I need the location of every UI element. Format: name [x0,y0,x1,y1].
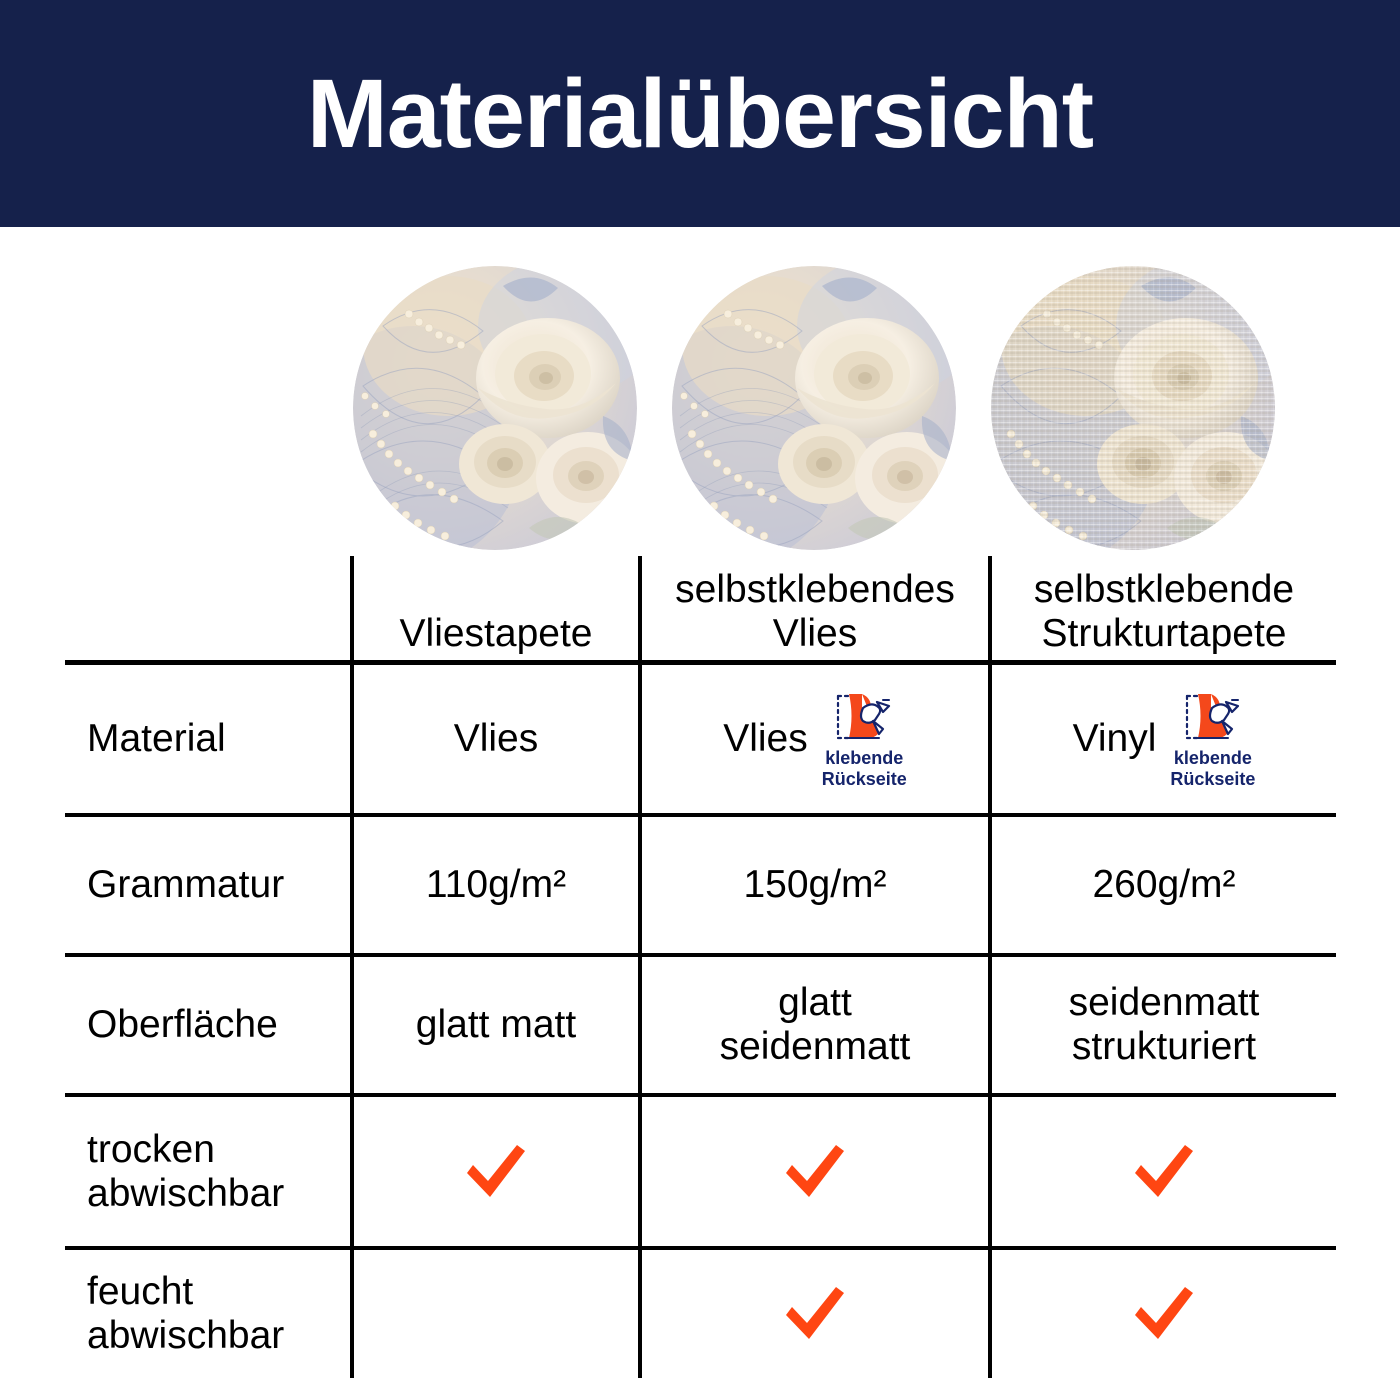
thumbnail-row [0,266,1400,556]
cell-value: glatt matt [416,1003,576,1047]
header-cell-vliestapete: Vliestapete [352,556,640,662]
cell-oberflaeche-selbstklebende-strukturtapete: seidenmatt strukturiert [990,955,1336,1095]
row-label-text: Material [87,717,226,760]
cell-grammatur-vliestapete: 110g/m² [352,815,640,955]
cell-trocken-vliestapete [352,1095,640,1248]
header-label-selbstklebendes-vlies: selbstklebendes Vlies [675,568,955,655]
header-cell-selbstklebende-strukturtapete: selbstklebende Strukturtapete [990,556,1336,662]
material-overview-page: Materialübersicht [0,0,1400,1400]
table-row: feucht abwischbar [65,1248,1336,1378]
table-row: Material Vlies Vlies [65,662,1336,815]
thumbnail-vliestapete[interactable] [353,266,637,550]
row-label-text: Oberfläche [87,1003,278,1046]
adhesive-backing-badge: klebende Rückseite [822,688,907,790]
adhesive-backing-label: klebende Rückseite [822,748,907,790]
cell-grammatur-selbstklebendes-vlies: 150g/m² [640,815,990,955]
cell-feucht-selbstklebende-strukturtapete [990,1248,1336,1378]
row-label-trocken-abwischbar: trocken abwischbar [65,1095,352,1248]
header-label-vliestapete: Vliestapete [400,612,593,655]
row-label-text: trocken abwischbar [87,1128,284,1215]
cell-grammatur-selbstklebende-strukturtapete: 260g/m² [990,815,1336,955]
table-row: Oberfläche glatt matt glatt seidenmatt s… [65,955,1336,1095]
checkmark-icon [459,1141,533,1203]
page-title: Materialübersicht [307,65,1093,162]
thumbnail-selbstklebende-strukturtapete[interactable] [991,266,1275,550]
checkmark-icon [1127,1141,1201,1203]
header-cell-empty [65,556,352,662]
cell-oberflaeche-selbstklebendes-vlies: glatt seidenmatt [640,955,990,1095]
table-row: Grammatur 110g/m² 150g/m² 260g/m² [65,815,1336,955]
cell-value: Vinyl [1073,717,1157,761]
checkmark-icon [1127,1283,1201,1345]
row-label-grammatur: Grammatur [65,815,352,955]
cell-value: 150g/m² [743,863,886,907]
header-cell-selbstklebendes-vlies: selbstklebendes Vlies [640,556,990,662]
row-label-oberflaeche: Oberfläche [65,955,352,1095]
cell-trocken-selbstklebendes-vlies [640,1095,990,1248]
material-spec-table: Vliestapete selbstklebendes Vlies selbst… [65,556,1336,1378]
cell-trocken-selbstklebende-strukturtapete [990,1095,1336,1248]
adhesive-backing-badge: klebende Rückseite [1170,688,1255,790]
table-row: trocken abwischbar [65,1095,1336,1248]
header-label-selbstklebende-strukturtapete: selbstklebende Strukturtapete [1034,568,1294,655]
cell-feucht-selbstklebendes-vlies [640,1248,990,1378]
checkmark-icon [778,1141,852,1203]
cell-value: glatt seidenmatt [720,981,911,1068]
adhesive-backing-label: klebende Rückseite [1170,748,1255,790]
cell-value: Vlies [723,717,808,761]
checkmark-icon [778,1283,852,1345]
row-label-text: Grammatur [87,863,284,906]
header-banner: Materialübersicht [0,0,1400,227]
cell-material-selbstklebende-strukturtapete: Vinyl [990,662,1336,815]
row-label-feucht-abwischbar: feucht abwischbar [65,1248,352,1378]
cell-feucht-vliestapete [352,1248,640,1378]
cell-value: seidenmatt strukturiert [1069,981,1260,1068]
material-spec-table-wrap: Vliestapete selbstklebendes Vlies selbst… [65,556,1336,1378]
checkmark-absent [362,1283,630,1345]
cell-value: Vlies [454,717,539,761]
adhesive-backing-icon [833,688,895,746]
table-header-row: Vliestapete selbstklebendes Vlies selbst… [65,556,1336,662]
cell-value: 110g/m² [426,863,566,907]
row-label-text: feucht abwischbar [87,1270,284,1357]
adhesive-backing-icon [1182,688,1244,746]
cell-value: 260g/m² [1092,863,1235,907]
thumbnail-selbstklebendes-vlies[interactable] [672,266,956,550]
cell-material-selbstklebendes-vlies: Vlies [640,662,990,815]
row-label-material: Material [65,662,352,815]
cell-oberflaeche-vliestapete: glatt matt [352,955,640,1095]
cell-material-vliestapete: Vlies [352,662,640,815]
